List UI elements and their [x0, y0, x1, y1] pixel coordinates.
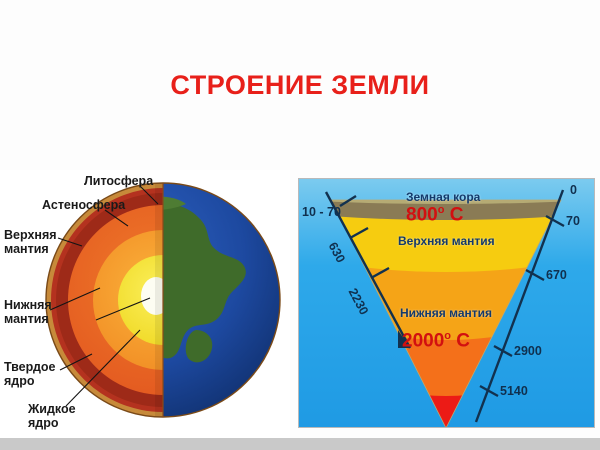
temperature-upper-unit: C	[450, 204, 464, 225]
scale-right-5140: 5140	[500, 384, 528, 398]
degree-symbol-upper: o	[438, 204, 445, 216]
page-title: СТРОЕНИЕ ЗЕМЛИ	[0, 70, 600, 101]
label-lower-mantle: Нижняя мантия	[4, 298, 52, 326]
wedge-label-crust: Земная кора	[406, 190, 480, 204]
wedge-label-lower-mantle: Нижняя мантия	[400, 306, 492, 320]
earth-layers-wedge-panel: Земная кора Верхняя мантия Нижняя мантия…	[298, 178, 595, 428]
degree-symbol-lower: o	[444, 330, 451, 342]
label-lithosphere: Литосфера	[84, 174, 153, 188]
temperature-upper: 800o C	[406, 204, 463, 226]
temperature-lower-value: 2000	[402, 330, 444, 351]
scale-right-0: 0	[570, 183, 577, 197]
label-liquid-core: Жидкое ядро	[28, 402, 76, 430]
bottom-strip	[0, 438, 600, 450]
label-solid-core: Твердое ядро	[4, 360, 55, 388]
temperature-lower-unit: C	[456, 330, 470, 351]
scale-left-crust: 10 - 70	[302, 205, 341, 219]
wedge-label-upper-mantle: Верхняя мантия	[398, 234, 495, 248]
temperature-upper-value: 800	[406, 204, 438, 225]
label-upper-mantle: Верхняя мантия	[4, 228, 57, 256]
scale-right-70: 70	[566, 214, 580, 228]
earth-cutaway-panel: Литосфера Астеносфера Верхняя мантия Ниж…	[0, 170, 290, 438]
scale-right-2900: 2900	[514, 344, 542, 358]
temperature-lower: 2000o C	[402, 330, 470, 352]
label-asthenosphere: Астеносфера	[42, 198, 125, 212]
scale-right-670: 670	[546, 268, 567, 282]
